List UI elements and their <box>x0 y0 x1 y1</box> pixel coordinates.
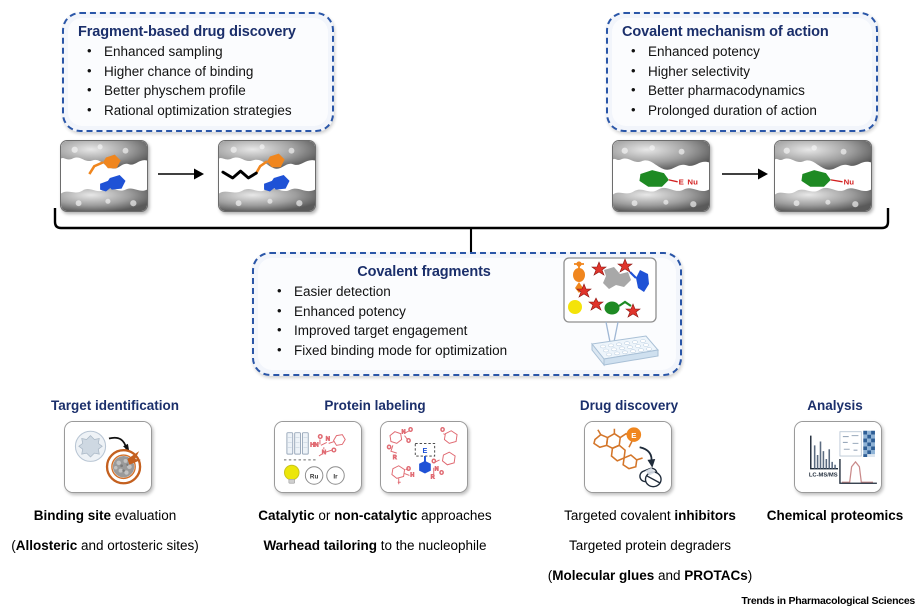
list-item: Better pharmacodynamics <box>622 81 862 101</box>
list-item: Prolonged duration of action <box>622 101 862 121</box>
caption-line: Binding site evaluation <box>0 508 210 523</box>
svg-text:O: O <box>441 428 445 434</box>
caption-line: (Allosteric and ortosteric sites) <box>0 538 210 553</box>
list-item: Enhanced sampling <box>78 42 318 62</box>
protein-surface-fragments-unlinked <box>60 140 148 212</box>
callout-inner: Covalent mechanism of action Enhanced po… <box>612 18 872 126</box>
svg-text:O: O <box>408 428 412 434</box>
caption-line: (Molecular glues and PROTACs) <box>520 568 780 583</box>
protein-surface-covalent-after: Nu <box>774 140 872 212</box>
drug-discovery-icon: E <box>584 421 672 493</box>
arrow-right-icon-left-pair <box>158 166 204 182</box>
svg-text:LC-MS/MS: LC-MS/MS <box>809 472 838 478</box>
svg-text:N: N <box>322 450 326 456</box>
svg-text:O: O <box>318 435 323 441</box>
caption-segment: or <box>315 508 335 523</box>
caption-segment: Catalytic <box>258 508 314 523</box>
target-identification-icon <box>64 421 152 493</box>
svg-text:E: E <box>679 178 684 187</box>
callout-fragment-based-drug-discovery: Fragment-based drug discovery Enhanced s… <box>62 12 334 132</box>
arrow-right-icon-right-pair <box>722 166 768 182</box>
caption-line: Chemical proteomics <box>750 508 920 523</box>
caption-segment: and <box>654 568 684 583</box>
list-item: Higher selectivity <box>622 62 862 82</box>
list-item: Better physchem profile <box>78 81 318 101</box>
caption-segment: PROTACs <box>684 568 748 583</box>
photocatalysis-icon: O HN N N O Ru Ir <box>274 421 362 493</box>
caption-segment: Molecular glues <box>552 568 654 583</box>
svg-text:E: E <box>423 446 428 455</box>
callout-title: Covalent mechanism of action <box>622 24 862 40</box>
svg-text:O: O <box>387 445 391 451</box>
list-item: Higher chance of binding <box>78 62 318 82</box>
callout-inner: Fragment-based drug discovery Enhanced s… <box>68 18 328 126</box>
caption-segment: and ortosteric sites) <box>77 538 199 553</box>
caption-segment: Warhead tailoring <box>263 538 377 553</box>
svg-text:Ru: Ru <box>310 473 319 480</box>
caption-segment: Binding site <box>34 508 111 523</box>
protein-surface-fragments-linked <box>218 140 316 212</box>
list-item: Rational optimization strategies <box>78 101 318 121</box>
caption-segment: evaluation <box>111 508 176 523</box>
callout-bullet-list: Enhanced sampling Higher chance of bindi… <box>78 42 318 120</box>
caption-segment: approaches <box>417 508 491 523</box>
column-heading-protein-labeling: Protein labeling <box>270 398 480 413</box>
svg-text:E: E <box>631 431 636 440</box>
analysis-icon: LC-MS/MS <box>794 421 882 493</box>
caption-line: Warhead tailoring to the nucleophile <box>222 538 528 553</box>
callout-bullet-list: Enhanced potency Higher selectivity Bett… <box>622 42 862 120</box>
svg-text:R: R <box>431 474 435 480</box>
svg-text:O: O <box>432 459 436 465</box>
caption-line: Targeted protein degraders <box>520 538 780 553</box>
protein-surface-covalent-before: E Nu <box>612 140 710 212</box>
caption-segment: to the nucleophile <box>377 538 487 553</box>
caption-line: Targeted covalent inhibitors <box>520 508 780 523</box>
column-heading-drug-discovery: Drug discovery <box>524 398 734 413</box>
svg-text:Ir: Ir <box>333 473 338 480</box>
svg-text:O: O <box>332 448 337 454</box>
svg-text:H: H <box>410 472 414 478</box>
svg-text:HN: HN <box>310 442 318 448</box>
svg-text:R: R <box>393 455 397 461</box>
fragment-library-illustration <box>562 256 662 372</box>
caption-segment: Targeted protein degraders <box>569 538 731 553</box>
svg-text:Nu: Nu <box>844 178 855 187</box>
caption-segment: ) <box>748 568 753 583</box>
column-heading-target-identification: Target identification <box>10 398 220 413</box>
caption-segment: Targeted covalent <box>564 508 674 523</box>
journal-credit: Trends in Pharmacological Sciences <box>741 595 915 607</box>
svg-text:N: N <box>435 467 439 473</box>
caption-segment: non-catalytic <box>334 508 417 523</box>
warhead-tailoring-icon: N O O O R O O N O R O H <box>380 421 468 493</box>
column-heading-analysis: Analysis <box>750 398 920 413</box>
callout-covalent-mechanism-of-action: Covalent mechanism of action Enhanced po… <box>606 12 878 132</box>
caption-line: Catalytic or non-catalytic approaches <box>222 508 528 523</box>
caption-segment: Allosteric <box>16 538 78 553</box>
svg-text:O: O <box>440 471 444 477</box>
list-item: Enhanced potency <box>622 42 862 62</box>
caption-segment: inhibitors <box>674 508 736 523</box>
svg-text:O: O <box>407 438 411 444</box>
svg-text:N: N <box>326 436 330 442</box>
svg-text:N: N <box>402 430 406 436</box>
svg-text:Nu: Nu <box>687 178 698 187</box>
callout-title: Fragment-based drug discovery <box>78 24 318 40</box>
caption-segment: Chemical proteomics <box>767 508 904 523</box>
